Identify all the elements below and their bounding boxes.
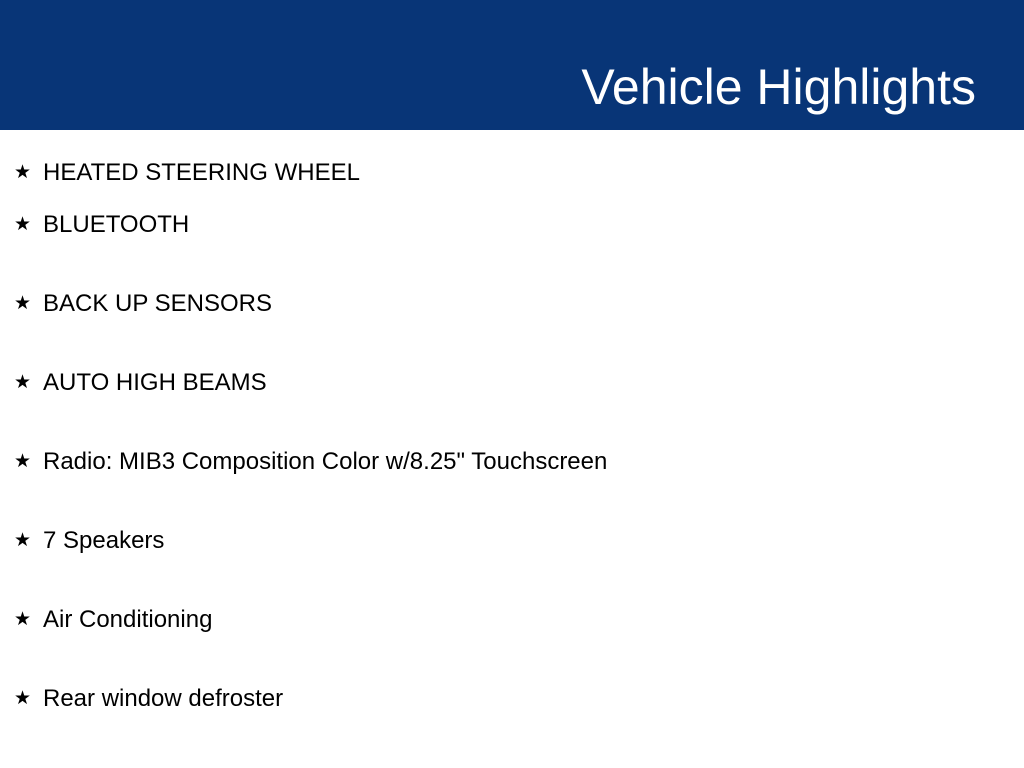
list-item: ★ Air Conditioning (0, 604, 1024, 683)
list-item: ★ BACK UP SENSORS (0, 288, 1024, 367)
list-item: ★ AUTO HIGH BEAMS (0, 367, 1024, 446)
highlight-label: HEATED STEERING WHEEL (43, 157, 360, 188)
list-item: ★ Rear window defroster (0, 683, 1024, 762)
star-bullet-icon: ★ (14, 604, 43, 635)
highlight-label: Rear window defroster (43, 683, 283, 714)
list-item: ★ 7 Speakers (0, 525, 1024, 604)
vehicle-highlights-slide: Vehicle Highlights ★ HEATED STEERING WHE… (0, 0, 1024, 768)
star-bullet-icon: ★ (14, 446, 43, 477)
highlight-label: Radio: MIB3 Composition Color w/8.25" To… (43, 446, 607, 477)
list-item: ★ HEATED STEERING WHEEL (0, 130, 1024, 209)
highlight-label: BACK UP SENSORS (43, 288, 272, 319)
star-bullet-icon: ★ (14, 157, 43, 188)
highlight-label: 7 Speakers (43, 525, 164, 556)
page-title: Vehicle Highlights (581, 62, 976, 112)
star-bullet-icon: ★ (14, 683, 43, 714)
star-bullet-icon: ★ (14, 209, 43, 240)
vehicle-highlights-list: ★ HEATED STEERING WHEEL ★ BLUETOOTH ★ BA… (0, 130, 1024, 762)
list-item: ★ BLUETOOTH (0, 209, 1024, 288)
list-item: ★ Radio: MIB3 Composition Color w/8.25" … (0, 446, 1024, 525)
highlight-label: BLUETOOTH (43, 209, 189, 240)
star-bullet-icon: ★ (14, 367, 43, 398)
highlight-label: Air Conditioning (43, 604, 212, 635)
star-bullet-icon: ★ (14, 288, 43, 319)
highlight-label: AUTO HIGH BEAMS (43, 367, 267, 398)
star-bullet-icon: ★ (14, 525, 43, 556)
header-banner: Vehicle Highlights (0, 0, 1024, 130)
